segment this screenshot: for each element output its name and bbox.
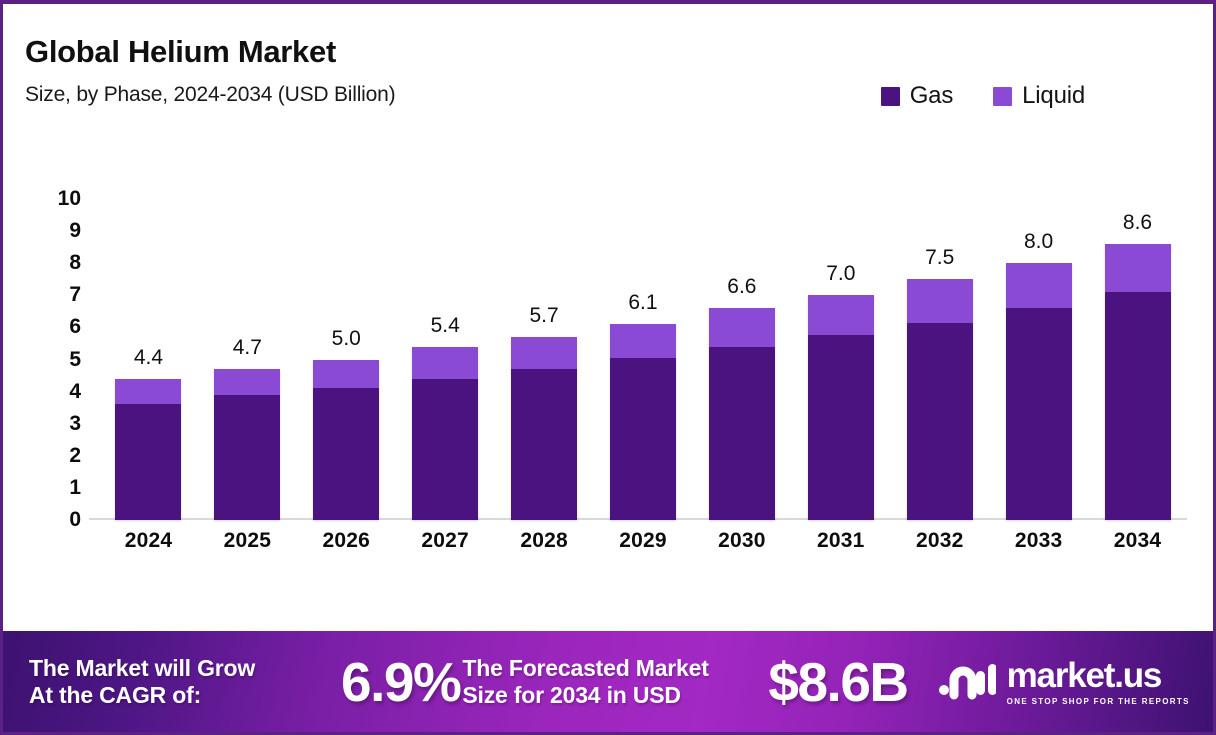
y-axis-tick-8: 8: [69, 251, 81, 275]
bar-value-label: 6.6: [727, 275, 756, 299]
bar-segment-gas[interactable]: [115, 404, 181, 520]
bar-column-2033[interactable]: 8.0: [989, 199, 1088, 520]
square-swatch-icon: [881, 87, 900, 106]
bar-stack[interactable]: 8.6: [1105, 244, 1171, 520]
y-axis-tick-0: 0: [69, 508, 81, 532]
bar-segment-liquid[interactable]: [511, 337, 577, 369]
x-axis-tick-2024: 2024: [99, 529, 198, 563]
bar-column-2026[interactable]: 5.0: [297, 199, 396, 520]
bar-value-label: 5.7: [529, 304, 558, 328]
bar-stack[interactable]: 5.4: [412, 347, 478, 520]
logo-text-block: market.us ONE STOP SHOP FOR THE REPORTS: [1007, 658, 1190, 706]
x-axis-tick-2026: 2026: [297, 529, 396, 563]
cagr-label-line-2: At the CAGR of:: [29, 682, 329, 709]
x-axis-tick-2029: 2029: [594, 529, 693, 563]
bar-value-label: 8.6: [1123, 211, 1152, 235]
chart-plot-wrapper: 012345678910 4.44.75.05.45.76.16.67.07.5…: [3, 149, 1213, 631]
bar-value-label: 5.0: [332, 327, 361, 351]
x-axis-tick-2033: 2033: [989, 529, 1088, 563]
bars-area: 4.44.75.05.45.76.16.67.07.58.08.6: [99, 199, 1187, 520]
x-axis-tick-2034: 2034: [1088, 529, 1187, 563]
bar-segment-liquid[interactable]: [709, 308, 775, 347]
forecast-label: The Forecasted Market Size for 2034 in U…: [462, 655, 752, 708]
y-axis-tick-7: 7: [69, 283, 81, 307]
bar-segment-liquid[interactable]: [313, 360, 379, 389]
bar-column-2032[interactable]: 7.5: [890, 199, 989, 520]
logo-tagline: ONE STOP SHOP FOR THE REPORTS: [1007, 697, 1190, 706]
legend-label: Liquid: [1022, 82, 1085, 110]
bar-segment-gas[interactable]: [709, 347, 775, 520]
forecast-label-line-2: Size for 2034 in USD: [462, 682, 752, 709]
y-axis-tick-4: 4: [69, 380, 81, 404]
bar-column-2034[interactable]: 8.6: [1088, 199, 1187, 520]
bar-segment-gas[interactable]: [1105, 292, 1171, 520]
bar-stack[interactable]: 6.1: [610, 324, 676, 520]
y-axis-tick-5: 5: [69, 348, 81, 372]
chart-header: Global Helium Market Size, by Phase, 202…: [3, 4, 1213, 149]
bar-column-2028[interactable]: 5.7: [495, 199, 594, 520]
x-axis-tick-2027: 2027: [396, 529, 495, 563]
cagr-label: The Market will Grow At the CAGR of:: [29, 655, 329, 708]
bar-segment-gas[interactable]: [412, 379, 478, 520]
forecast-value: $8.6B: [768, 650, 907, 714]
bar-value-label: 8.0: [1024, 230, 1053, 254]
bar-stack[interactable]: 4.7: [214, 369, 280, 520]
bar-segment-gas[interactable]: [610, 358, 676, 520]
bar-value-label: 5.4: [431, 314, 460, 338]
bar-segment-gas[interactable]: [214, 395, 280, 520]
bar-stack[interactable]: 6.6: [709, 308, 775, 520]
bar-value-label: 7.5: [925, 246, 954, 270]
x-axis-tick-2030: 2030: [692, 529, 791, 563]
bar-value-label: 7.0: [826, 262, 855, 286]
bar-series-group: 4.44.75.05.45.76.16.67.07.58.08.6: [99, 199, 1187, 520]
bar-value-label: 4.4: [134, 346, 163, 370]
bar-segment-gas[interactable]: [313, 388, 379, 520]
bar-column-2030[interactable]: 6.6: [692, 199, 791, 520]
bar-segment-gas[interactable]: [907, 323, 973, 520]
y-axis-tick-3: 3: [69, 412, 81, 436]
bar-value-label: 4.7: [233, 336, 262, 360]
legend-item-gas[interactable]: Gas: [881, 82, 953, 110]
y-axis-tick-10: 10: [58, 187, 81, 211]
chart-legend: GasLiquid: [881, 82, 1085, 110]
bar-segment-gas[interactable]: [511, 369, 577, 520]
bar-column-2031[interactable]: 7.0: [791, 199, 890, 520]
bar-segment-liquid[interactable]: [1105, 244, 1171, 292]
bar-column-2029[interactable]: 6.1: [594, 199, 693, 520]
infographic-card: Global Helium Market Size, by Phase, 202…: [0, 0, 1216, 735]
bar-stack[interactable]: 4.4: [115, 379, 181, 520]
logo-name: market.us: [1007, 658, 1190, 693]
bar-stack[interactable]: 7.0: [808, 295, 874, 520]
y-axis: 012345678910: [43, 199, 87, 520]
bar-segment-liquid[interactable]: [610, 324, 676, 358]
legend-label: Gas: [910, 82, 953, 110]
x-axis: 2024202520262027202820292030203120322033…: [99, 529, 1187, 563]
bar-column-2027[interactable]: 5.4: [396, 199, 495, 520]
bar-segment-gas[interactable]: [808, 335, 874, 520]
y-axis-tick-6: 6: [69, 315, 81, 339]
bar-segment-gas[interactable]: [1006, 308, 1072, 520]
bar-column-2025[interactable]: 4.7: [198, 199, 297, 520]
bar-column-2024[interactable]: 4.4: [99, 199, 198, 520]
x-axis-tick-2032: 2032: [890, 529, 989, 563]
market-us-logo[interactable]: market.us ONE STOP SHOP FOR THE REPORTS: [938, 658, 1190, 706]
bar-value-label: 6.1: [628, 291, 657, 315]
bar-segment-liquid[interactable]: [214, 369, 280, 395]
bar-segment-liquid[interactable]: [808, 295, 874, 335]
x-axis-tick-2028: 2028: [495, 529, 594, 563]
bar-stack[interactable]: 7.5: [907, 279, 973, 520]
bar-stack[interactable]: 5.0: [313, 360, 379, 521]
cagr-label-line-1: The Market will Grow: [29, 655, 329, 682]
summary-banner: The Market will Grow At the CAGR of: 6.9…: [3, 631, 1213, 732]
y-axis-tick-9: 9: [69, 219, 81, 243]
page-title: Global Helium Market: [25, 34, 1213, 70]
x-axis-tick-2025: 2025: [198, 529, 297, 563]
forecast-label-line-1: The Forecasted Market: [462, 655, 752, 682]
y-axis-tick-2: 2: [69, 444, 81, 468]
square-swatch-icon: [993, 87, 1012, 106]
bar-segment-liquid[interactable]: [907, 279, 973, 322]
cagr-value: 6.9%: [341, 650, 460, 714]
market-us-logomark-icon: [938, 658, 996, 705]
bar-stack[interactable]: 8.0: [1006, 263, 1072, 520]
bar-segment-liquid[interactable]: [1006, 263, 1072, 308]
x-axis-tick-2031: 2031: [791, 529, 890, 563]
bar-segment-liquid[interactable]: [115, 379, 181, 405]
bar-stack[interactable]: 5.7: [511, 337, 577, 520]
bar-segment-liquid[interactable]: [412, 347, 478, 379]
legend-item-liquid[interactable]: Liquid: [993, 82, 1085, 110]
y-axis-tick-1: 1: [69, 476, 81, 500]
chart-plot-area: 012345678910 4.44.75.05.45.76.16.67.07.5…: [43, 199, 1187, 520]
